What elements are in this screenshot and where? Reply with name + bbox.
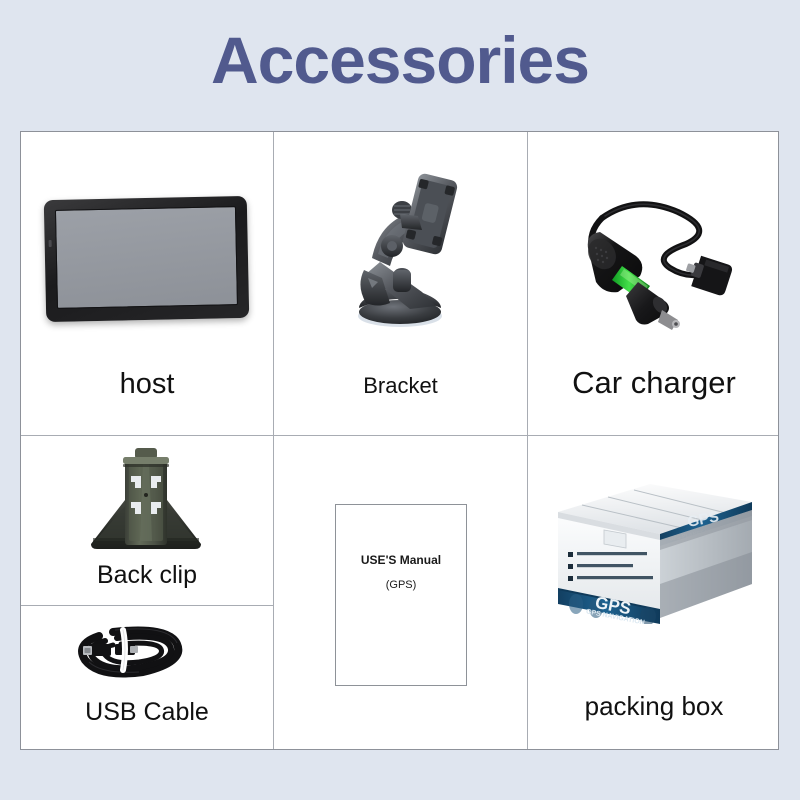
manual-booklet-icon: USE'S Manual (GPS) [335,504,467,686]
accessory-label-host: host [21,368,273,401]
suction-cup-mount-icon [344,170,459,335]
manual-subtitle-text: (GPS) [336,579,466,591]
accessory-label-back-clip: Back clip [21,561,273,590]
gps-device-indicator-icon [49,240,52,247]
accessories-grid-panel: host [20,131,779,750]
accessory-cell-back-clip: Back clip [21,436,273,605]
accessories-infographic: Accessories host [0,0,800,800]
gps-device-icon [44,196,250,322]
packing-box-icon: GPS GPS PLANET NAVIGATION [552,472,758,624]
accessory-cell-host: host [21,132,273,435]
accessory-cell-car-charger: Car charger [528,132,780,435]
accessory-cell-bracket: Bracket [274,132,527,435]
accessory-label-car-charger: Car charger [528,365,780,401]
usb-cable-coil-icon [73,624,193,680]
accessory-label-usb-cable: USB Cable [21,698,273,727]
page-title: Accessories [0,18,800,102]
accessory-cell-usb-cable: USB Cable [21,606,273,751]
gps-device-screen [55,206,238,309]
car-charger-icon [566,182,746,332]
accessory-cell-packing-box: GPS GPS PLANET NAVIGATION [528,436,780,751]
back-clip-bracket-icon [83,448,209,554]
manual-title-text: USE'S Manual [336,553,466,567]
accessory-label-packing-box: packing box [528,691,780,722]
accessory-cell-manual: USE'S Manual (GPS) [274,436,527,751]
accessory-label-bracket: Bracket [274,373,527,399]
